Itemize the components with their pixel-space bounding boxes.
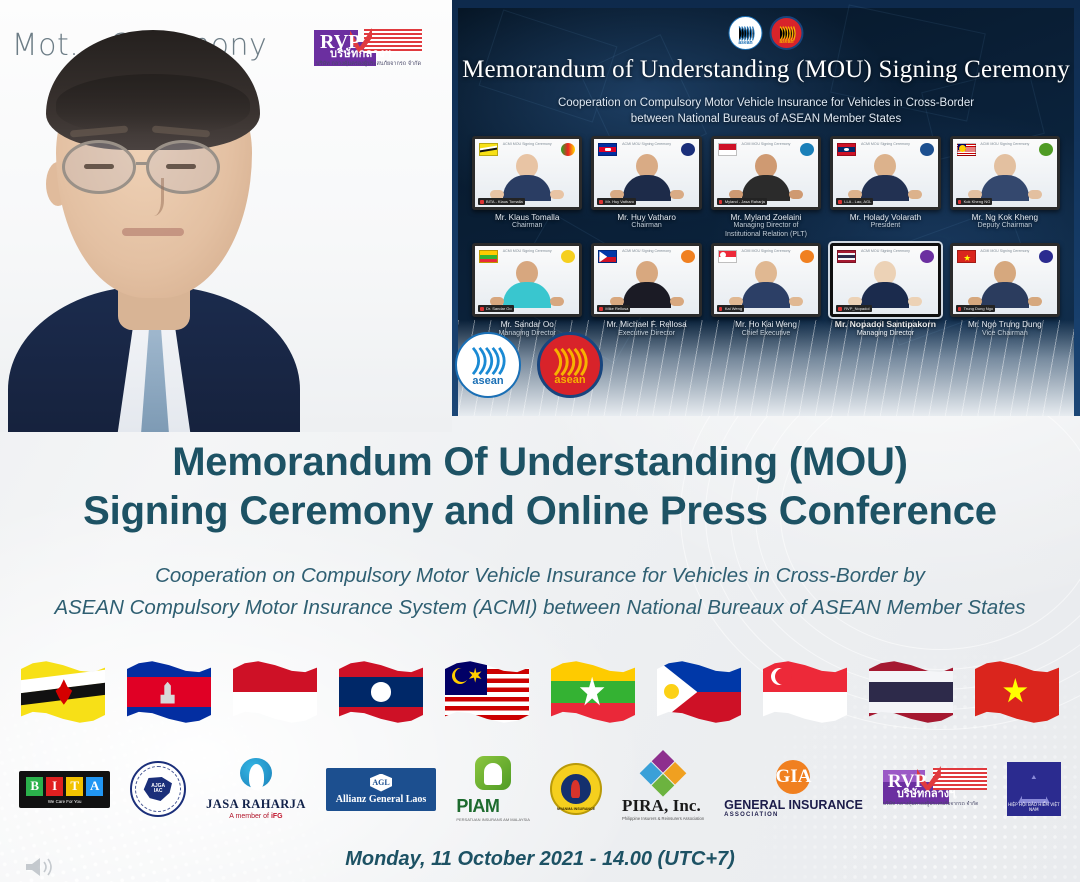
participant-cell[interactable]: ACMI MOU Signing Ceremony Trung Dung Ngo	[950, 243, 1060, 338]
participant-role-line2: Institutional Relation (PLT)	[711, 231, 821, 239]
asean-emblem-red-icon: asean	[537, 332, 603, 398]
screen-root: ll Mot... Ceremony RVP บริษัทกลางฯ บริษั…	[0, 0, 1080, 882]
logo-allianz-general-laos: AGL Allianz General Laos	[326, 756, 437, 822]
asean-emblems: asean asean	[455, 332, 603, 398]
logo-myanma-insurance: MYANMA INSURANCE	[550, 756, 602, 822]
participant-tile-label: Mr. Huy Vatharo	[597, 198, 636, 205]
jasa-sub-brand: iFG	[271, 813, 283, 820]
participant-tile-label: Kai Weng	[717, 305, 744, 312]
participant-cell[interactable]: ACMI MOU Signing Ceremony Mike Rellosa	[591, 243, 701, 338]
participant-name: Mr. Nopadol Santipakorn	[830, 320, 940, 330]
participant-caption-active: Mr. Nopadol Santipakorn Managing Directo…	[830, 317, 940, 338]
page-subtitle-line1: Cooperation on Compulsory Motor Vehicle …	[0, 560, 1080, 592]
flag-myanmar-icon	[551, 660, 635, 724]
participant-name: Mr. Myland Zoelaini	[711, 213, 821, 222]
participant-video[interactable]: ACMI MOU Signing Ceremony Kok Kheng NG	[950, 136, 1060, 210]
participant-caption: Mr. Michael F. Rellosa Executive Directo…	[591, 317, 701, 338]
participant-name: Mr. Klaus Tomalla	[472, 213, 582, 222]
participant-caption: Mr. Myland Zoelaini Managing Director of…	[711, 210, 821, 239]
flag-thailand-icon	[869, 660, 953, 724]
participant-cell[interactable]: ACMI MOU Signing Ceremony Mr. Huy Vathar…	[591, 136, 701, 239]
participant-role: Vice Chairman	[950, 330, 1060, 338]
participant-role: Managing Director of	[711, 222, 821, 230]
gia-name: GENERAL INSURANCE	[724, 799, 863, 812]
participant-name: Mr. Sandar Oo	[472, 320, 582, 329]
participant-caption: Mr. Klaus Tomalla Chairman	[472, 210, 582, 231]
rvp-thai-subtext: บริษัท กลางคุ้มครองผู้ประสบภัยจากรถ จำกั…	[316, 60, 421, 68]
shared-asean-badges: asean asean	[729, 16, 804, 50]
participant-video[interactable]: ACMI MOU Signing Ceremony Dr. Sandar Oo	[472, 243, 582, 317]
bita-letter-b: B	[26, 777, 43, 796]
flag-cambodia-icon	[127, 660, 211, 724]
flag-singapore-icon	[763, 660, 847, 724]
gia-mark: GIA	[776, 760, 810, 794]
speaker-audio-icon[interactable]	[24, 856, 56, 878]
logo-bita: B I T A We Care For You	[19, 756, 110, 822]
flag-brunei-icon	[21, 660, 105, 724]
participant-cell[interactable]: ACMI MOU Signing Ceremony Dr. Sandar Oo	[472, 243, 582, 338]
participant-caption: Mr. Ho Kai Weng Chief Executive	[711, 317, 821, 338]
participant-video[interactable]: ACMI MOU Signing Ceremony Mike Rellosa	[591, 243, 701, 317]
participant-role: President	[830, 222, 940, 230]
participant-tile-label: Trung Dung Ngo	[956, 305, 995, 312]
participant-tile-label: Dr. Sandar Oo	[478, 305, 514, 312]
bita-letter-i: I	[46, 777, 63, 796]
participant-cell[interactable]: ACMI MOU Signing Ceremony Kok Kheng NG	[950, 136, 1060, 239]
logo-avi-vietnam: HIỆP HỘI BẢO HIỂM VIỆT NAM	[1007, 756, 1061, 822]
participant-cell-active[interactable]: ACMI MOU Signing Ceremony RVP_Nopadol	[830, 243, 940, 338]
speaker-portrait	[2, 22, 302, 432]
bita-letter-a: A	[86, 777, 103, 796]
participant-video[interactable]: ACMI MOU Signing Ceremony Kai Weng	[711, 243, 821, 317]
participant-tile-label: LLA - Lao, AGL	[836, 198, 873, 205]
page-subtitle-line2: ASEAN Compulsory Motor Insurance System …	[0, 592, 1080, 624]
pira-name: PIRA, Inc.	[622, 796, 704, 816]
jasa-sub: A member of	[229, 813, 269, 820]
shared-subtitle-line2: between National Bureaus of ASEAN Member…	[458, 112, 1074, 128]
page-title: Memorandum Of Understanding (MOU) Signin…	[0, 438, 1080, 536]
participant-row-1: ACMI MOU Signing Ceremony BITA - Klaus T…	[472, 136, 1060, 239]
bita-tagline: We Care For You	[26, 799, 103, 804]
participant-role: Executive Director	[591, 330, 701, 338]
flag-indonesia-icon	[233, 660, 317, 724]
participant-caption: Mr. Ng Kok Kheng Deputy Chairman	[950, 210, 1060, 231]
participant-name: Mr. Michael F. Rellosa	[591, 320, 701, 329]
jasa-name: JASA RAHARJA	[206, 797, 306, 812]
shared-slide-subtitle: Cooperation on Compulsory Motor Vehicle …	[458, 96, 1074, 127]
logo-pira: PIRA, Inc. Philippine Insurers & Reinsur…	[622, 756, 704, 822]
iac-line2: IAC	[154, 788, 163, 794]
participant-role: Deputy Chairman	[950, 222, 1060, 230]
page-title-line2: Signing Ceremony and Online Press Confer…	[0, 487, 1080, 536]
logo-jasa-raharja: JASA RAHARJA A member of iFG	[206, 756, 306, 822]
asean-emblem-blue-icon: asean	[455, 332, 521, 398]
asean-emblem-red-word: asean	[540, 374, 600, 386]
participant-video-active[interactable]: ACMI MOU Signing Ceremony RVP_Nopadol	[830, 243, 940, 317]
participant-tile-label: Mike Rellosa	[597, 305, 630, 312]
piam-name: PIAM	[456, 796, 530, 817]
page-subtitle: Cooperation on Compulsory Motor Vehicle …	[0, 560, 1080, 624]
participant-tile-label: Kok Kheng NG	[956, 198, 993, 205]
shared-subtitle-line1: Cooperation on Compulsory Motor Vehicle …	[458, 96, 1074, 112]
participant-name: Mr. Huy Vatharo	[591, 213, 701, 222]
participant-video[interactable]: ACMI MOU Signing Ceremony Mr. Huy Vathar…	[591, 136, 701, 210]
participant-caption: Mr. Ngo Trung Dung Vice Chairman	[950, 317, 1060, 338]
participant-role: Chairman	[591, 222, 701, 230]
shared-slide-title: Memorandum of Understanding (MOU) Signin…	[458, 56, 1074, 84]
participant-name: Mr. Ho Kai Weng	[711, 320, 821, 329]
flag-malaysia-icon	[445, 660, 529, 724]
participant-name: Mr. Ng Kok Kheng	[950, 213, 1060, 222]
participant-caption: Mr. Huy Vatharo Chairman	[591, 210, 701, 231]
participant-role: Managing Director	[830, 330, 940, 338]
participant-video[interactable]: ACMI MOU Signing Ceremony Trung Dung Ngo	[950, 243, 1060, 317]
participant-tile-label: Myland - Jasa Raharja	[717, 198, 767, 205]
participant-row-2: ACMI MOU Signing Ceremony Dr. Sandar Oo	[472, 243, 1060, 338]
myanma-name: MYANMA INSURANCE	[552, 807, 600, 811]
member-state-flags	[0, 660, 1080, 724]
flag-vietnam-icon	[975, 660, 1059, 724]
logo-iac-cambodia: AJGA IAC	[130, 756, 186, 822]
asean-badge-red-word: asean	[772, 39, 802, 45]
bita-letter-t: T	[66, 777, 83, 796]
asean-badge-red: asean	[770, 16, 804, 50]
rvp-logo-icon: RVP บริษัทกลางฯ บริษัท กลางคุ้มครองผู้ปร…	[314, 28, 424, 70]
gia-sub: ASSOCIATION	[724, 812, 863, 818]
participant-video[interactable]: ACMI MOU Signing Ceremony LLA - Lao, AGL	[830, 136, 940, 210]
piam-sub: PERSATUAN INSURANS AM MALAYSIA	[456, 817, 530, 822]
logo-rvp-thailand: RVP บริษัทกลางฯ บริษัท กลางคุ้มครองผู้ปร…	[883, 756, 987, 822]
participant-grid: ACMI MOU Signing Ceremony BITA - Klaus T…	[472, 136, 1060, 342]
participant-cell[interactable]: ACMI MOU Signing Ceremony BITA - Klaus T…	[472, 136, 582, 239]
participant-name: Mr. Ngo Trung Dung	[950, 320, 1060, 329]
participant-video[interactable]: ACMI MOU Signing Ceremony BITA - Klaus T…	[472, 136, 582, 210]
asean-badge-white: asean	[729, 16, 763, 50]
participant-cell[interactable]: ACMI MOU Signing Ceremony Myland - Jasa …	[711, 136, 821, 239]
agl-mark: AGL	[372, 778, 389, 787]
asean-emblem-blue-word: asean	[457, 375, 519, 387]
page-title-line1: Memorandum Of Understanding (MOU)	[0, 438, 1080, 487]
participant-tile-label: RVP_Nopadol	[836, 305, 871, 312]
member-org-logos: B I T A We Care For You AJGA IAC JASA RA…	[0, 756, 1080, 822]
active-speaker-video-tile[interactable]: ll Mot... Ceremony RVP บริษัทกลางฯ บริษั…	[0, 0, 452, 432]
flag-laos-icon	[339, 660, 423, 724]
participant-role: Chief Executive	[711, 330, 821, 338]
pira-sub: Philippine Insurers & Reinsurers Associa…	[622, 816, 704, 821]
logo-piam: PIAM PERSATUAN INSURANS AM MALAYSIA	[456, 756, 530, 822]
participant-tile-label: BITA - Klaus Tomalla	[478, 198, 525, 205]
event-date: Monday, 11 October 2021 - 14.00 (UTC+7)	[0, 848, 1080, 871]
avi-name: HIỆP HỘI BẢO HIỂM VIỆT NAM	[1007, 802, 1061, 812]
participant-cell[interactable]: ACMI MOU Signing Ceremony LLA - Lao, AGL	[830, 136, 940, 239]
participant-role: Chairman	[472, 222, 582, 230]
participant-video[interactable]: ACMI MOU Signing Ceremony Myland - Jasa …	[711, 136, 821, 210]
agl-name: Allianz General Laos	[336, 794, 427, 805]
participant-caption: Mr. Holady Volarath President	[830, 210, 940, 231]
logo-gia-singapore: GIA GENERAL INSURANCE ASSOCIATION	[724, 756, 863, 822]
participant-cell[interactable]: ACMI MOU Signing Ceremony Kai Weng	[711, 243, 821, 338]
asean-badge-white-word: asean	[730, 40, 762, 46]
rvp-thai-sub: บริษัท กลางคุ้มครองผู้ประสบภัยจากรถ จำกั…	[883, 800, 979, 808]
flag-philippines-icon	[657, 660, 741, 724]
participant-name: Mr. Holady Volarath	[830, 213, 940, 222]
